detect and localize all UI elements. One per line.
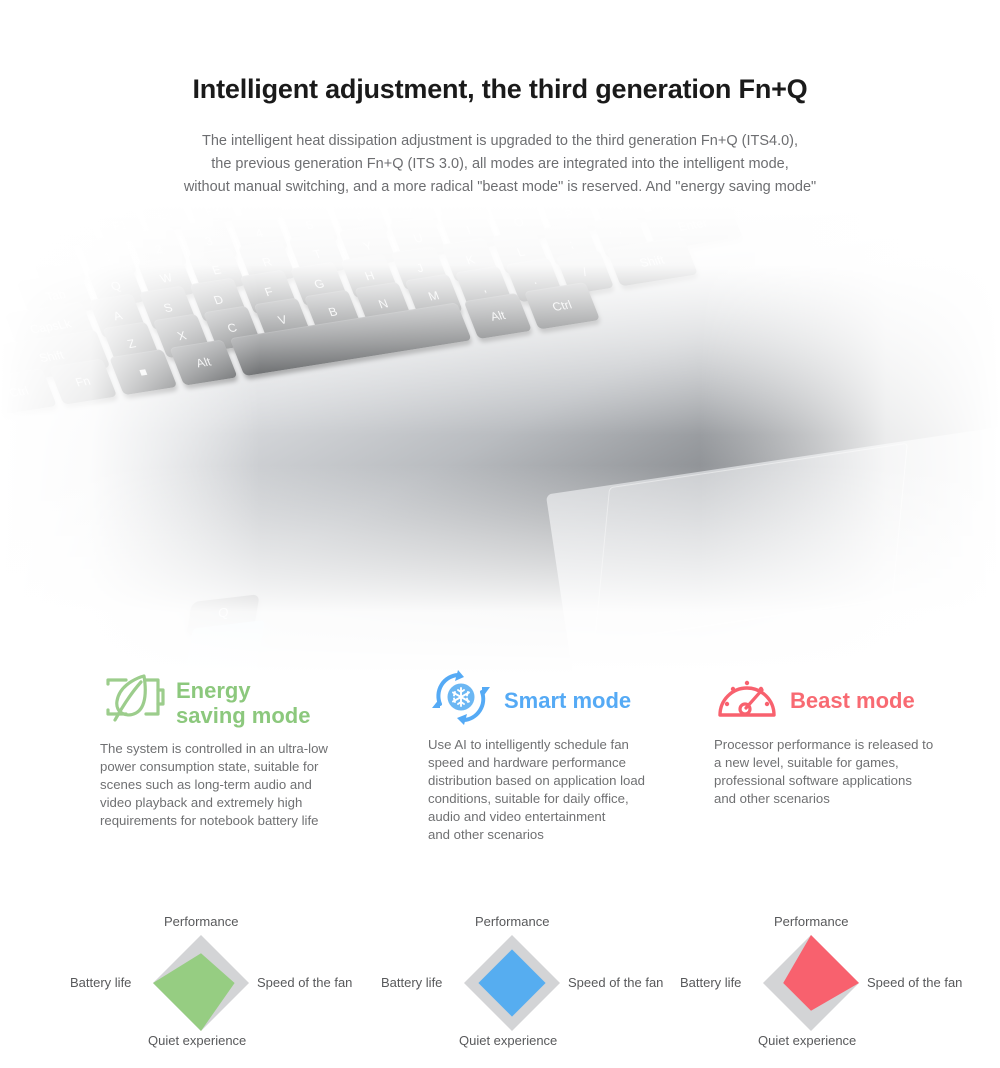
radar-chart-smart: Performance Speed of the fan Quiet exper… <box>347 905 677 1050</box>
photo-fade-bottom <box>0 465 1000 675</box>
radar-label-top-smart: Performance <box>475 914 549 929</box>
subtitle-line-2: the previous generation Fn+Q (ITS 3.0), … <box>0 153 1000 176</box>
radar-label-left-beast: Battery life <box>680 975 741 990</box>
radar-label-bottom-smart: Quiet experience <box>459 1033 557 1048</box>
page-title: Intelligent adjustment, the third genera… <box>0 74 1000 105</box>
subtitle-line-3: without manual switching, and a more rad… <box>0 176 1000 199</box>
radar-label-top-beast: Performance <box>774 914 848 929</box>
radar-label-left-smart: Battery life <box>381 975 442 990</box>
mode-card-energy-saving: Energy saving mode The system is control… <box>100 668 400 830</box>
mode-header-beast: Beast mode <box>714 668 1000 730</box>
radar-chart-beast: Performance Speed of the fan Quiet exper… <box>646 905 976 1050</box>
radar-label-bottom-beast: Quiet experience <box>758 1033 856 1048</box>
mode-header-energy: Energy saving mode <box>100 668 400 730</box>
mode-title-smart: Smart mode <box>504 668 631 713</box>
radar-label-right-energy: Speed of the fan <box>257 975 352 990</box>
radar-charts-section: Performance Speed of the fan Quiet exper… <box>0 905 1000 1055</box>
radar-label-bottom-energy: Quiet experience <box>148 1033 246 1048</box>
radar-label-top-energy: Performance <box>164 914 238 929</box>
radar-label-right-beast: Speed of the fan <box>867 975 962 990</box>
mode-card-beast: Beast mode Processor performance is rele… <box>714 668 1000 808</box>
mode-description-beast: Processor performance is released to a n… <box>714 736 1000 808</box>
radar-chart-energy-saving: Performance Speed of the fan Quiet exper… <box>36 905 366 1050</box>
laptop-keyboard-photo: Esc F1 F2 F3 F4 F5 F6 F7 F8 F9 F10 F11 F… <box>0 205 1000 675</box>
radar-label-left-energy: Battery life <box>70 975 131 990</box>
battery-leaf-icon <box>100 668 166 726</box>
mode-description-smart: Use AI to intelligently schedule fan spe… <box>428 736 718 844</box>
page-root: Intelligent adjustment, the third genera… <box>0 0 1000 1068</box>
mode-card-smart: Smart mode Use AI to intelligently sched… <box>428 668 718 844</box>
subtitle-line-1: The intelligent heat dissipation adjustm… <box>0 130 1000 153</box>
speedometer-icon <box>714 668 780 726</box>
mode-header-smart: Smart mode <box>428 668 718 730</box>
page-subtitle: The intelligent heat dissipation adjustm… <box>0 130 1000 199</box>
mode-title-beast: Beast mode <box>790 668 915 713</box>
mode-title-energy: Energy saving mode <box>176 668 310 728</box>
mode-description-energy: The system is controlled in an ultra-low… <box>100 740 400 830</box>
modes-section: Energy saving mode The system is control… <box>0 668 1000 873</box>
refresh-snowflake-icon <box>428 668 494 726</box>
keyboard-image: Esc F1 F2 F3 F4 F5 F6 F7 F8 F9 F10 F11 F… <box>0 205 1000 675</box>
